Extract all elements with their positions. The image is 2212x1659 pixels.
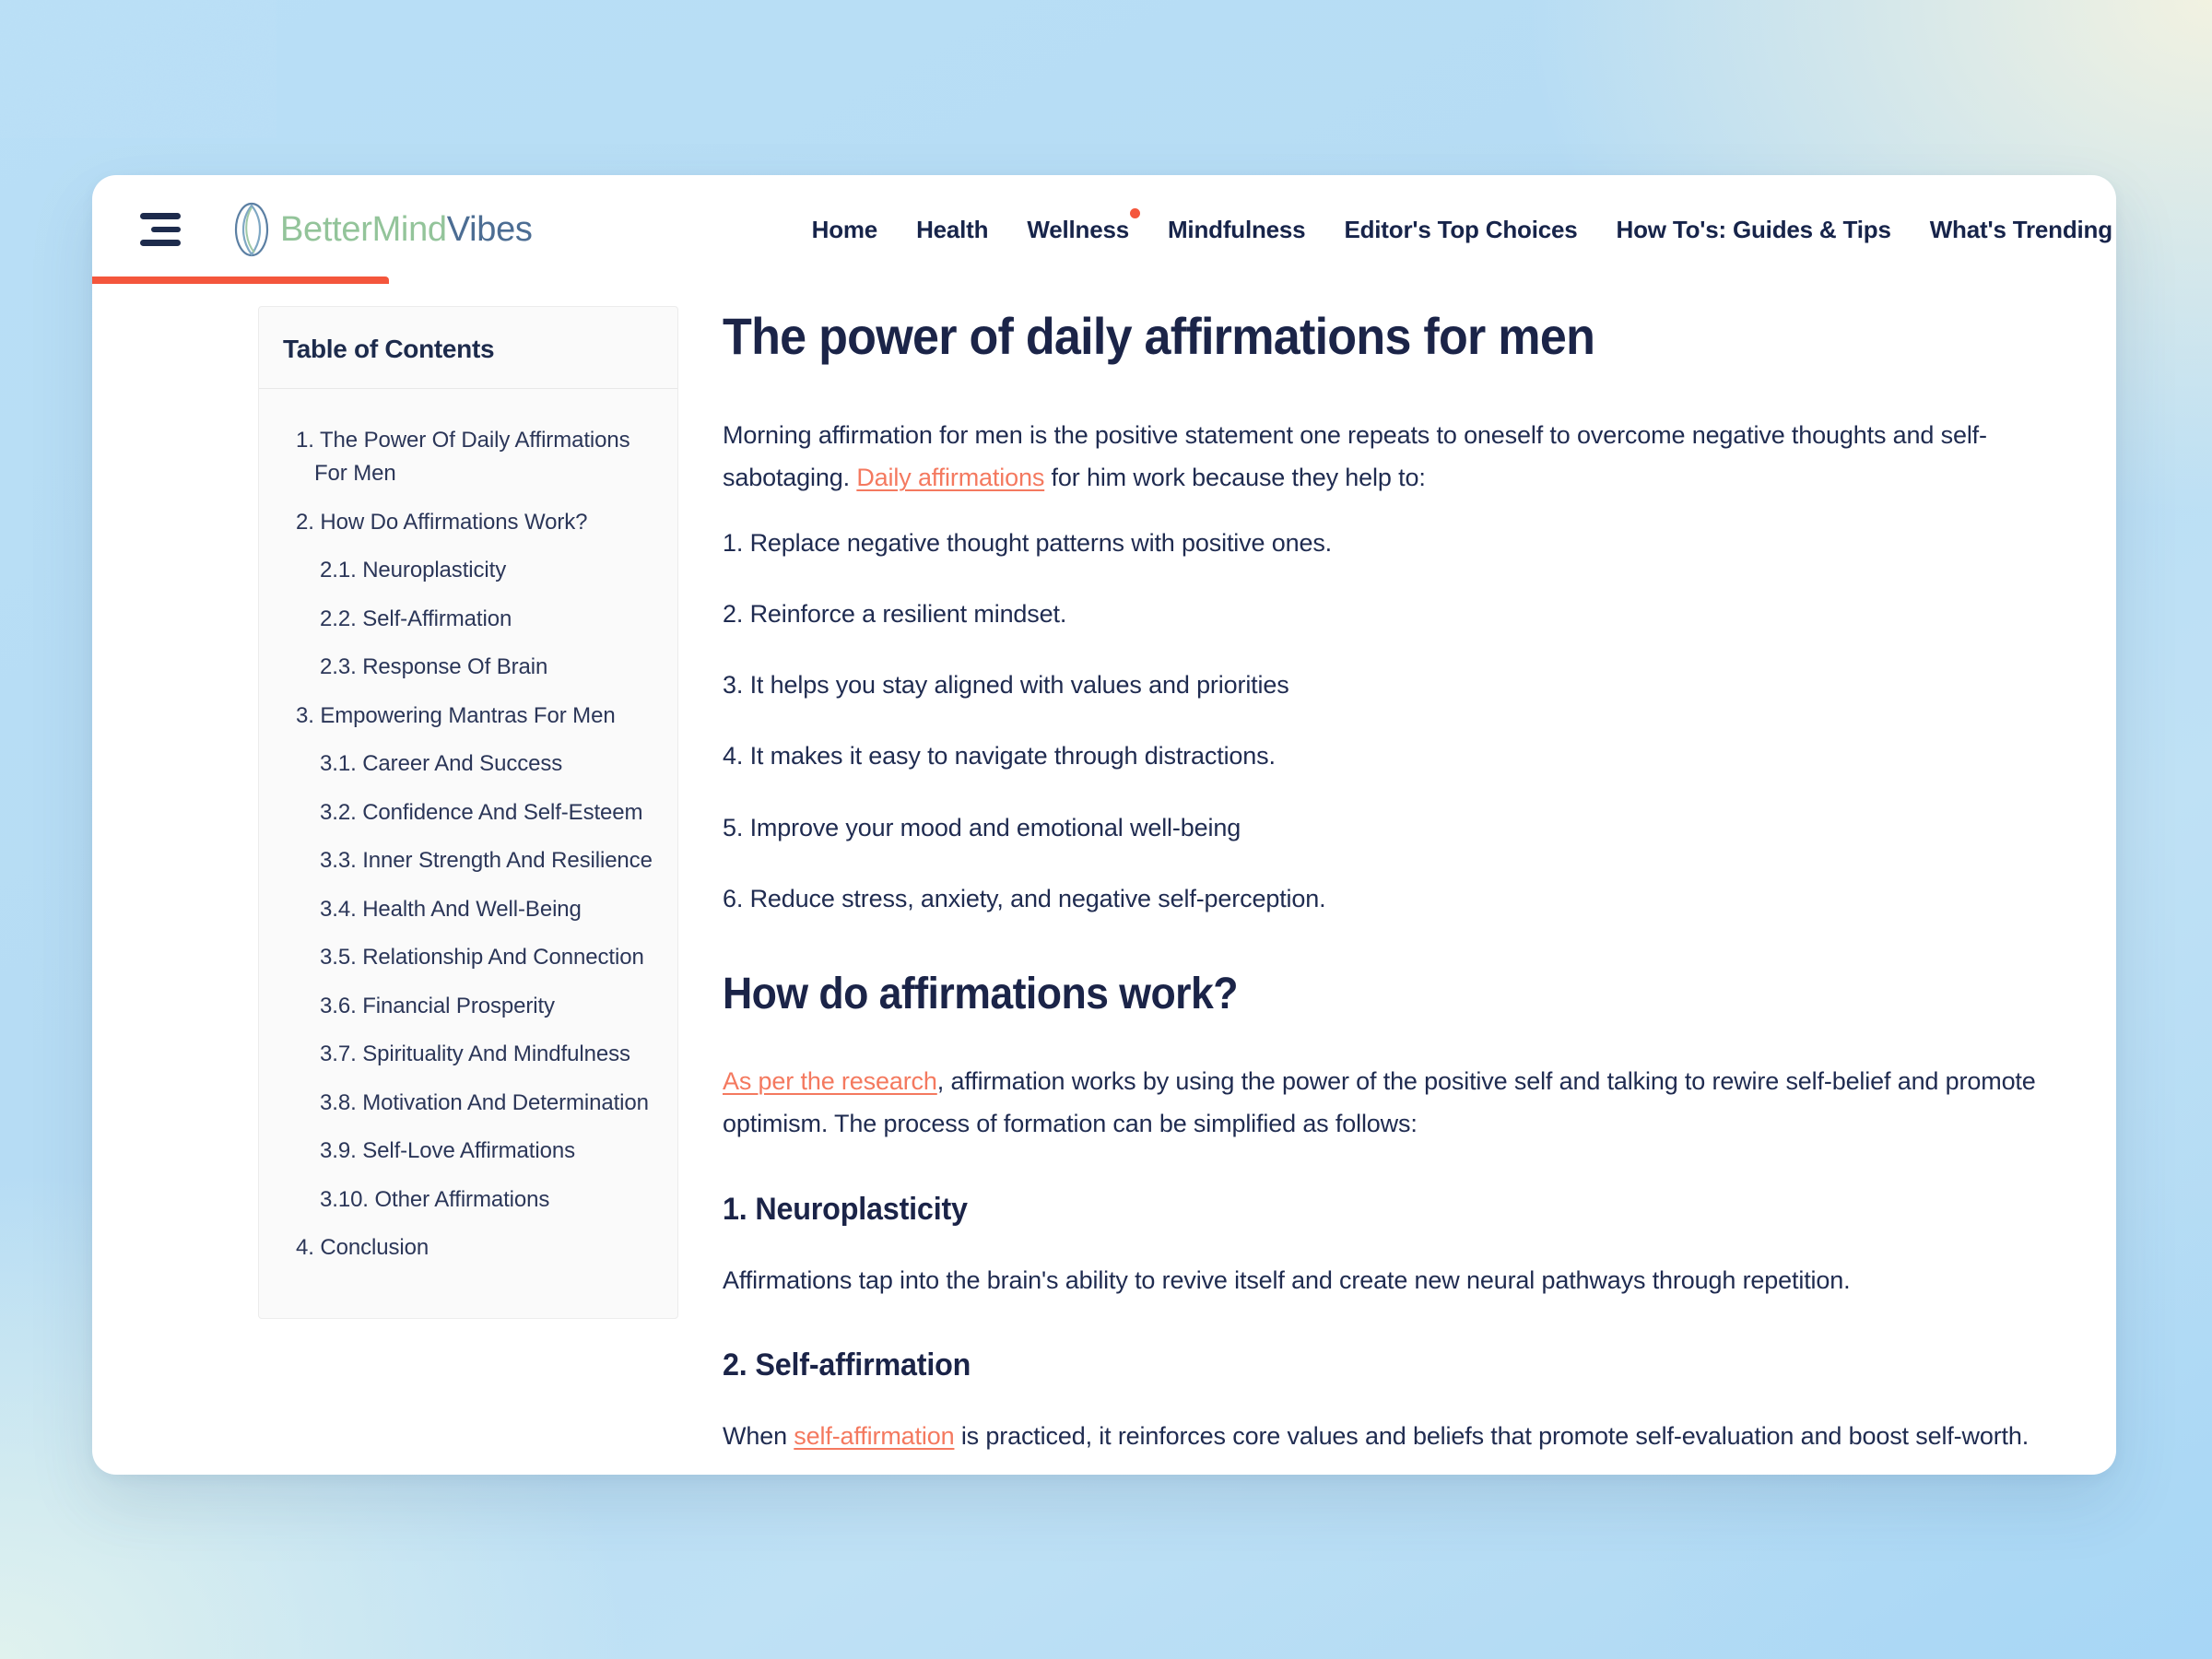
nav-label: What's Trending <box>1930 216 2112 243</box>
site-logo[interactable]: BetterMindVibes <box>225 199 533 260</box>
toc-item-3[interactable]: 3. Empowering Mantras For Men <box>296 700 659 733</box>
nav-label: Home <box>812 216 877 243</box>
benefit-item-1: 1. Replace negative thought patterns wit… <box>723 524 2042 563</box>
toc-item-2-3[interactable]: 2.3. Response Of Brain <box>320 651 659 684</box>
toc-item-2-1[interactable]: 2.1. Neuroplasticity <box>320 554 659 587</box>
toc-item-1[interactable]: 1. The Power Of Daily Affirmations For M… <box>296 424 659 491</box>
toc-item-3-8[interactable]: 3.8. Motivation And Determination <box>320 1087 659 1120</box>
hamburger-bar-2 <box>151 227 181 233</box>
subsection-body-self-affirmation: When self-affirmation is practiced, it r… <box>723 1415 2042 1457</box>
intro-text-after-link: for him work because they help to: <box>1044 464 1425 491</box>
nav-item-health[interactable]: Health <box>897 206 1007 253</box>
nav-item-editors-top-choices[interactable]: Editor's Top Choices <box>1324 206 1596 253</box>
toc-item-3-2[interactable]: 3.2. Confidence And Self-Esteem <box>320 796 659 829</box>
table-of-contents: Table of Contents 1. The Power Of Daily … <box>258 306 678 1319</box>
section-heading-how-do-affirmations-work: How do affirmations work? <box>723 969 1950 1019</box>
site-window: BetterMindVibes Home Health Wellness Min… <box>92 175 2116 1475</box>
benefit-item-4: 4. It makes it easy to navigate through … <box>723 736 2042 776</box>
nav-item-how-tos-guides-tips[interactable]: How To's: Guides & Tips <box>1597 206 1911 253</box>
toc-item-3-7[interactable]: 3.7. Spirituality And Mindfulness <box>320 1038 659 1071</box>
brand-wordmark: BetterMindVibes <box>280 210 533 250</box>
hamburger-menu-icon[interactable] <box>140 213 182 246</box>
benefit-item-2: 2. Reinforce a resilient mindset. <box>723 594 2042 634</box>
leaf-drop-logo-icon <box>225 199 278 260</box>
toc-item-3-6[interactable]: 3.6. Financial Prosperity <box>320 990 659 1023</box>
toc-item-3-1[interactable]: 3.1. Career And Success <box>320 747 659 781</box>
brand-text-primary: BetterMind <box>280 210 447 249</box>
header-accent-bar <box>92 276 389 284</box>
nav-label: Mindfulness <box>1168 216 1305 243</box>
daily-affirmations-link[interactable]: Daily affirmations <box>856 464 1044 491</box>
background-noise-texture <box>0 0 276 138</box>
article-content: The power of daily affirmations for men … <box>678 306 2116 1475</box>
benefit-item-6: 6. Reduce stress, anxiety, and negative … <box>723 879 2042 919</box>
subsection-heading-neuroplasticity: 1. Neuroplasticity <box>723 1192 1976 1228</box>
nav-item-home[interactable]: Home <box>793 206 897 253</box>
nav-item-wellness[interactable]: Wellness <box>1007 206 1148 253</box>
benefit-item-5: 5. Improve your mood and emotional well-… <box>723 808 2042 848</box>
site-header: BetterMindVibes Home Health Wellness Min… <box>92 175 2116 284</box>
self-affirmation-text-before-link: When <box>723 1422 794 1450</box>
toc-item-2-2[interactable]: 2.2. Self-Affirmation <box>320 603 659 636</box>
nav-label: How To's: Guides & Tips <box>1617 216 1891 243</box>
nav-label: Wellness <box>1027 216 1129 243</box>
toc-title: Table of Contents <box>283 335 677 364</box>
page-body: Table of Contents 1. The Power Of Daily … <box>92 284 2116 1475</box>
as-per-the-research-link[interactable]: As per the research <box>723 1067 937 1095</box>
notification-dot-icon <box>1130 208 1140 218</box>
primary-navigation: Home Health Wellness Mindfulness Editor'… <box>793 206 2116 253</box>
nav-item-mindfulness[interactable]: Mindfulness <box>1148 206 1324 253</box>
subsection-heading-self-affirmation: 2. Self-affirmation <box>723 1347 1976 1383</box>
toc-item-4[interactable]: 4. Conclusion <box>296 1231 659 1265</box>
hamburger-bar-1 <box>140 213 181 219</box>
subsection-body-neuroplasticity: Affirmations tap into the brain's abilit… <box>723 1259 2042 1301</box>
toc-list: 1. The Power Of Daily Affirmations For M… <box>259 389 677 1318</box>
self-affirmation-link[interactable]: self-affirmation <box>794 1422 954 1450</box>
toc-item-3-10[interactable]: 3.10. Other Affirmations <box>320 1183 659 1217</box>
article-intro-paragraph: Morning affirmation for men is the posit… <box>723 414 2042 500</box>
self-affirmation-text-after-link: is practiced, it reinforces core values … <box>954 1422 2029 1450</box>
toc-item-3-3[interactable]: 3.3. Inner Strength And Resilience <box>320 844 659 877</box>
toc-item-2[interactable]: 2. How Do Affirmations Work? <box>296 506 659 539</box>
benefit-item-3: 3. It helps you stay aligned with values… <box>723 665 2042 705</box>
article-title: The power of daily affirmations for men <box>723 306 1950 366</box>
toc-item-3-5[interactable]: 3.5. Relationship And Connection <box>320 941 659 974</box>
brand-text-secondary: Vibes <box>447 210 533 249</box>
toc-item-3-9[interactable]: 3.9. Self-Love Affirmations <box>320 1135 659 1168</box>
nav-item-whats-trending[interactable]: What's Trending <box>1911 206 2116 253</box>
nav-label: Health <box>916 216 988 243</box>
nav-label: Editor's Top Choices <box>1344 216 1577 243</box>
toc-item-3-4[interactable]: 3.4. Health And Well-Being <box>320 893 659 926</box>
toc-header: Table of Contents <box>259 307 677 389</box>
section-intro-paragraph: As per the research, affirmation works b… <box>723 1060 2042 1146</box>
hamburger-bar-3 <box>140 240 181 246</box>
